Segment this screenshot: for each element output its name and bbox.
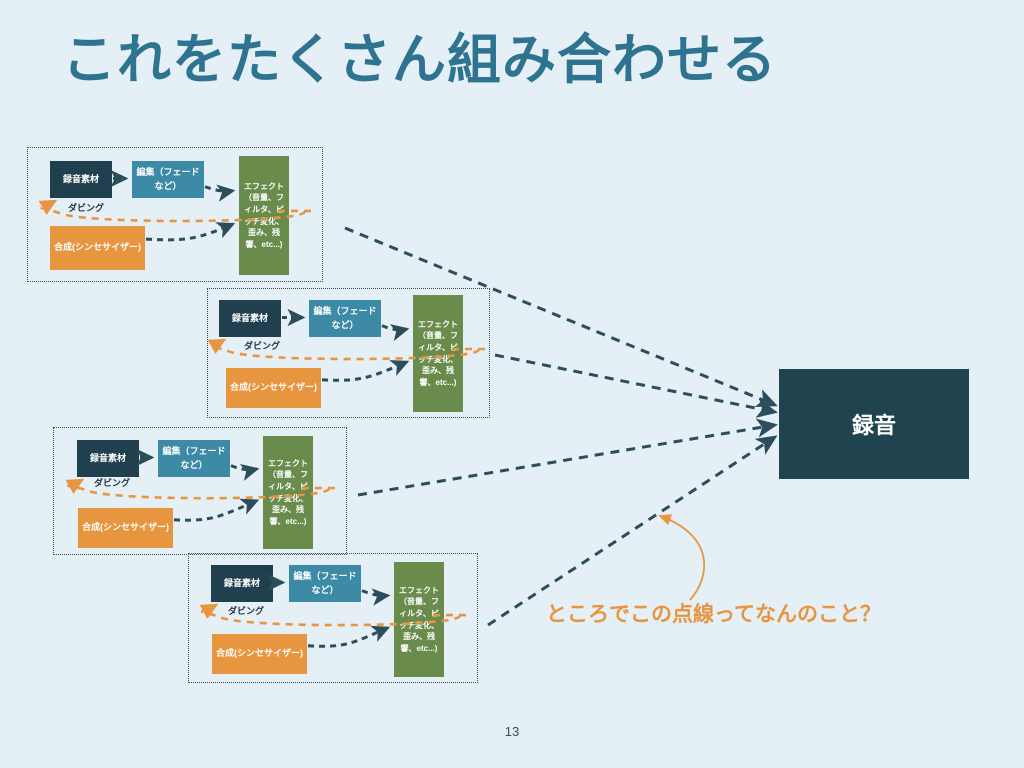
question-callout-arrow [660, 516, 704, 600]
page-title: これをたくさん組み合わせる [62, 28, 777, 93]
chain-group-1: 録音素材 編集（フェードなど） エフェクト（音量、フィルタ、ピッチ変化、歪み、残… [27, 147, 323, 282]
node-source-2: 録音素材 [219, 300, 281, 337]
node-synth-1: 合成(シンセサイザー) [50, 226, 145, 270]
node-synth-4: 合成(シンセサイザー) [212, 634, 307, 674]
node-effect-3: エフェクト（音量、フィルタ、ピッチ変化、歪み、残響、etc...) [263, 436, 313, 549]
dubbing-label-1: ダビング [68, 201, 104, 214]
node-source-1: 録音素材 [50, 161, 112, 198]
page-number: 13 [0, 724, 1024, 739]
node-effect-1: エフェクト（音量、フィルタ、ピッチ変化、歪み、残響、etc...) [239, 156, 289, 275]
node-source-4: 録音素材 [211, 565, 273, 602]
node-edit-1: 編集（フェードなど） [132, 161, 204, 198]
dubbing-label-3: ダビング [94, 476, 130, 489]
node-synth-3: 合成(シンセサイザー) [78, 508, 173, 548]
chain-group-2: 録音素材 編集（フェードなど） エフェクト（音量、フィルタ、ピッチ変化、歪み、残… [207, 288, 490, 418]
node-synth-2: 合成(シンセサイザー) [226, 368, 321, 408]
node-effect-4: エフェクト（音量、フィルタ、ピッチ変化、歪み、残響、etc...) [394, 562, 444, 677]
question-annotation: ところでこの点線ってなんのこと？ [546, 598, 881, 628]
node-edit-2: 編集（フェードなど） [309, 300, 381, 337]
dubbing-label-2: ダビング [244, 339, 280, 352]
node-effect-2: エフェクト（音量、フィルタ、ピッチ変化、歪み、残響、etc...) [413, 295, 463, 412]
node-edit-3: 編集（フェードなど） [158, 440, 230, 477]
node-edit-4: 編集（フェードなど） [289, 565, 361, 602]
chain-group-3: 録音素材 編集（フェードなど） エフェクト（音量、フィルタ、ピッチ変化、歪み、残… [53, 427, 347, 555]
record-output-box: 録音 [779, 369, 969, 479]
slide-canvas: これをたくさん組み合わせる 録音素材 編集（フェードなど） エフェクト（音量、フ… [0, 0, 1024, 768]
node-source-3: 録音素材 [77, 440, 139, 477]
chain-group-4: 録音素材 編集（フェードなど） エフェクト（音量、フィルタ、ピッチ変化、歪み、残… [188, 553, 478, 683]
dubbing-label-4: ダビング [228, 604, 264, 617]
